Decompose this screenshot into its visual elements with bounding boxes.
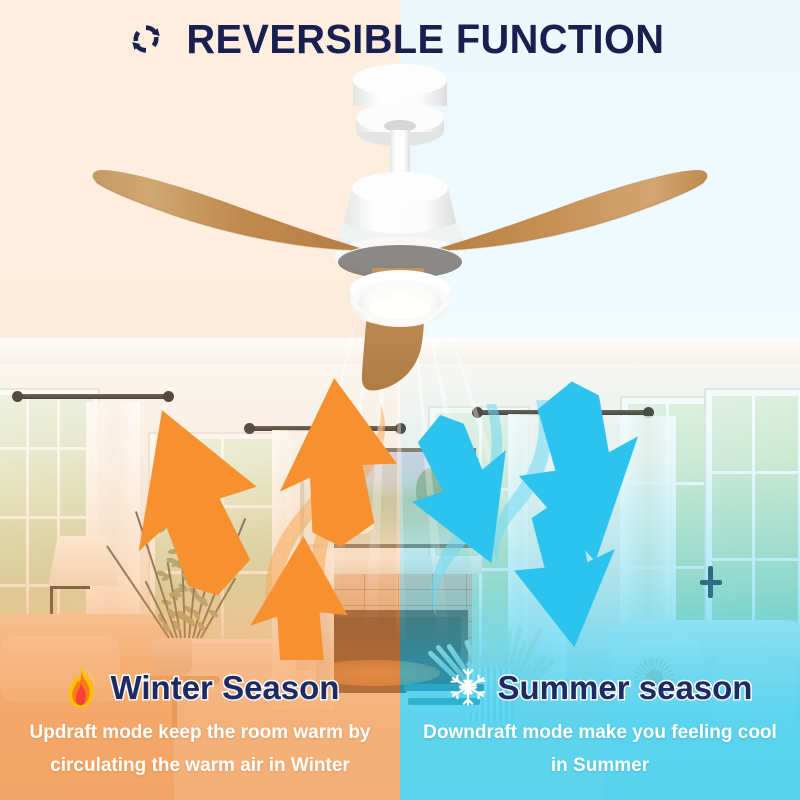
winter-description: Updraft mode keep the room warm by circu… [0,716,400,783]
winter-panel-caption: Winter Season Updraft mode keep the room… [0,640,400,800]
winter-heading: Winter Season [111,671,340,704]
summer-panel-caption: Summer season Downdraft mode make you fe… [400,640,800,800]
summer-heading-row: Summer season [400,658,800,716]
summer-heading: Summer season [498,671,753,704]
product-feature-image: REVERSIBLE FUNCTION Winter Season Updraf… [0,0,800,800]
winter-heading-row: Winter Season [0,658,400,716]
fire-icon [61,664,101,710]
floor-lamp-shade [48,536,118,586]
page-title: REVERSIBLE FUNCTION [186,19,664,60]
header: REVERSIBLE FUNCTION [0,0,800,78]
summer-description: Downdraft mode make you feeling cool in … [400,716,800,783]
curtain-rod-left [18,394,168,399]
snowflake-icon [448,664,488,710]
reverse-rotation-icon [129,22,163,56]
floor-lamp-arm [50,586,90,589]
door-handle [700,580,722,585]
room-ceiling [0,338,800,364]
